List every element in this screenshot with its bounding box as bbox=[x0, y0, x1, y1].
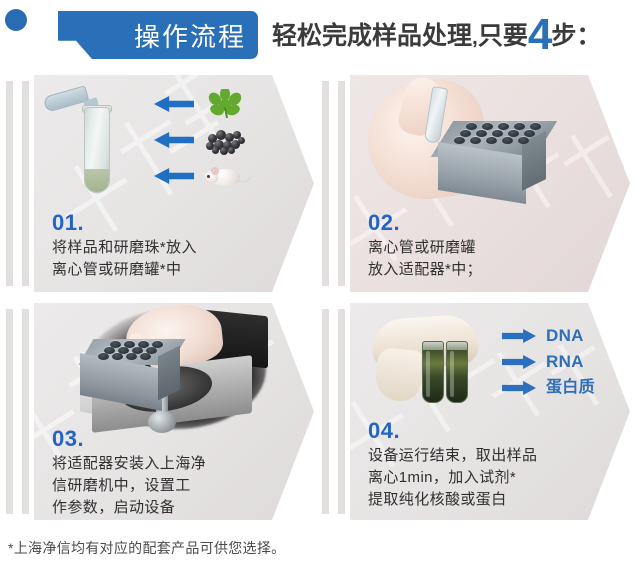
section-banner-label: 操作流程 bbox=[58, 11, 258, 59]
decor-bar-left-outer bbox=[322, 81, 329, 286]
blue-dot-icon bbox=[5, 9, 27, 31]
page-root: 操作流程 轻松完成样品处理,只要4步： bbox=[0, 0, 636, 573]
step-image-02 bbox=[350, 75, 630, 207]
step-text-line: 离心管或研磨罐*中 bbox=[52, 259, 302, 281]
page-title: 轻松完成样品处理,只要4步： bbox=[272, 14, 601, 59]
sample-row-beads bbox=[154, 127, 274, 153]
step-text-line: 离心1min，加入试剂* bbox=[368, 467, 618, 489]
step-number-04: 04. bbox=[368, 419, 618, 443]
step-number-01: 01. bbox=[52, 211, 302, 235]
leaf-sample-icon bbox=[204, 89, 248, 119]
footer-note: *上海净信均有对应的配套产品可供您选择。 bbox=[8, 538, 285, 558]
step-caption-04: 04. 设备运行结束，取出样品 离心1min，加入试剂* 提取纯化核酸或蛋白 bbox=[368, 419, 618, 511]
step-caption-01: 01. 将样品和研磨珠*放入 离心管或研磨罐*中 bbox=[52, 211, 302, 281]
decor-bar-left-inner bbox=[22, 309, 29, 514]
step-text-line: 设备运行结束，取出样品 bbox=[368, 445, 618, 467]
step-panel-01: 01. 将样品和研磨珠*放入 离心管或研磨罐*中 bbox=[34, 75, 314, 292]
headline-step-count: 4 bbox=[528, 10, 551, 59]
step-caption-02: 02. 离心管或研磨罐 放入适配器*中； bbox=[368, 211, 618, 281]
arrow-right-icon bbox=[502, 329, 536, 343]
tube-liquid bbox=[85, 169, 109, 192]
steps-grid: 01. 将样品和研磨珠*放入 离心管或研磨罐*中 bbox=[0, 75, 636, 525]
decor-bar-left-inner bbox=[338, 309, 345, 514]
sample-vial-icon bbox=[446, 341, 468, 403]
decor-bar-left-outer bbox=[6, 309, 13, 514]
decor-bar-left-inner bbox=[338, 81, 345, 286]
step-text-line: 作参数，启动设备 bbox=[52, 497, 302, 519]
decor-bar-left-inner bbox=[22, 81, 29, 286]
decor-bar-left-outer bbox=[322, 309, 329, 514]
step-panel-03: 03. 将适配器安装入上海净 信研磨机中，设置工 作参数，启动设备 bbox=[34, 303, 314, 520]
arrow-right-icon bbox=[502, 355, 536, 369]
step-text-line: 信研磨机中，设置工 bbox=[52, 475, 302, 497]
step-text-line: 将适配器安装入上海净 bbox=[52, 453, 302, 475]
sample-vial-icon bbox=[422, 341, 444, 403]
decor-bar-left-outer bbox=[6, 81, 13, 286]
step-number-03: 03. bbox=[52, 427, 302, 451]
mouse-sample-icon bbox=[204, 161, 248, 191]
page-header: 操作流程 轻松完成样品处理,只要4步： bbox=[0, 0, 636, 72]
product-label: DNA bbox=[546, 325, 584, 347]
step-card-02: 02. 离心管或研磨罐 放入适配器*中； bbox=[316, 75, 630, 292]
step-caption-03: 03. 将适配器安装入上海净 信研磨机中，设置工 作参数，启动设备 bbox=[52, 427, 302, 519]
step-card-01: 01. 将样品和研磨珠*放入 离心管或研磨罐*中 bbox=[0, 75, 314, 292]
grinding-beads-icon bbox=[204, 125, 248, 155]
step-panel-04: DNA RNA 蛋白质 04. 设备运行结束，取出样品 离心1min，加入试剂* bbox=[350, 303, 630, 520]
arrow-left-icon bbox=[154, 96, 194, 112]
gloved-fingers-icon bbox=[373, 347, 424, 404]
arrow-left-icon bbox=[154, 132, 194, 148]
step-image-03 bbox=[34, 303, 314, 435]
step-number-02: 02. bbox=[368, 211, 618, 235]
product-label: 蛋白质 bbox=[546, 377, 595, 399]
step-text-line: 放入适配器*中； bbox=[368, 259, 618, 281]
step-card-04: DNA RNA 蛋白质 04. 设备运行结束，取出样品 离心1min，加入试剂* bbox=[316, 303, 630, 520]
headline-mid: 只要 bbox=[478, 22, 528, 50]
arrow-left-icon bbox=[154, 168, 194, 184]
step-text-line: 将样品和研磨珠*放入 bbox=[52, 237, 302, 259]
headline-suffix: 步： bbox=[551, 22, 601, 50]
centrifuge-tube-icon bbox=[76, 93, 116, 197]
step-text-line: 提取纯化核酸或蛋白 bbox=[368, 489, 618, 511]
headline-prefix: 轻松完成样品处理 bbox=[272, 22, 472, 50]
step-image-01 bbox=[34, 75, 314, 207]
step-panel-02: 02. 离心管或研磨罐 放入适配器*中； bbox=[350, 75, 630, 292]
step-card-03: 03. 将适配器安装入上海净 信研磨机中，设置工 作参数，启动设备 bbox=[0, 303, 314, 520]
sample-row-leaf bbox=[154, 91, 274, 117]
sample-row-mouse bbox=[154, 163, 274, 189]
product-label: RNA bbox=[546, 351, 584, 373]
step-text-line: 离心管或研磨罐 bbox=[368, 237, 618, 259]
arrow-right-icon bbox=[502, 381, 536, 395]
step-image-04: DNA RNA 蛋白质 bbox=[350, 303, 630, 435]
